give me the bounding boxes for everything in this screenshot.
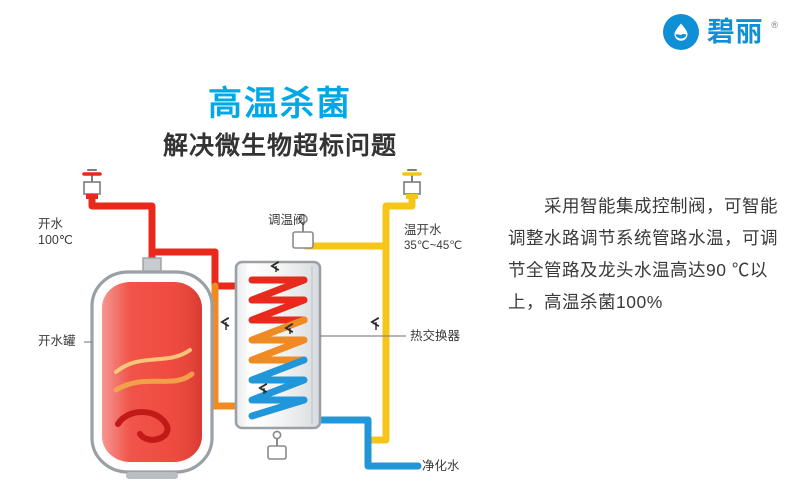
label-warm-water-temp: 35℃~45℃ <box>404 238 462 254</box>
slide-canvas: 碧丽 ® 高温杀菌 解决微生物超标问题 采用智能集成控制阀，可智能调整水路调节系… <box>0 0 800 500</box>
drain-valve-icon <box>268 431 286 459</box>
heat-exchanger <box>236 262 320 428</box>
system-diagram <box>0 0 800 500</box>
warm-water-pipe <box>306 196 412 440</box>
label-warm-water: 温开水 <box>404 222 442 238</box>
warm-water-faucet-icon <box>404 170 420 199</box>
label-heat-exchanger: 热交换器 <box>410 328 460 344</box>
label-hot-water: 开水 <box>38 216 63 232</box>
purified-water-pipe <box>320 420 418 466</box>
label-hot-water-temp: 100℃ <box>38 232 73 248</box>
hot-water-faucet-icon <box>84 170 100 199</box>
label-hot-water-tank: 开水罐 <box>38 333 76 349</box>
label-mixing-valve: 调温阀 <box>268 212 306 228</box>
hot-water-tank <box>92 258 212 479</box>
label-purified-water: 净化水 <box>422 458 460 474</box>
